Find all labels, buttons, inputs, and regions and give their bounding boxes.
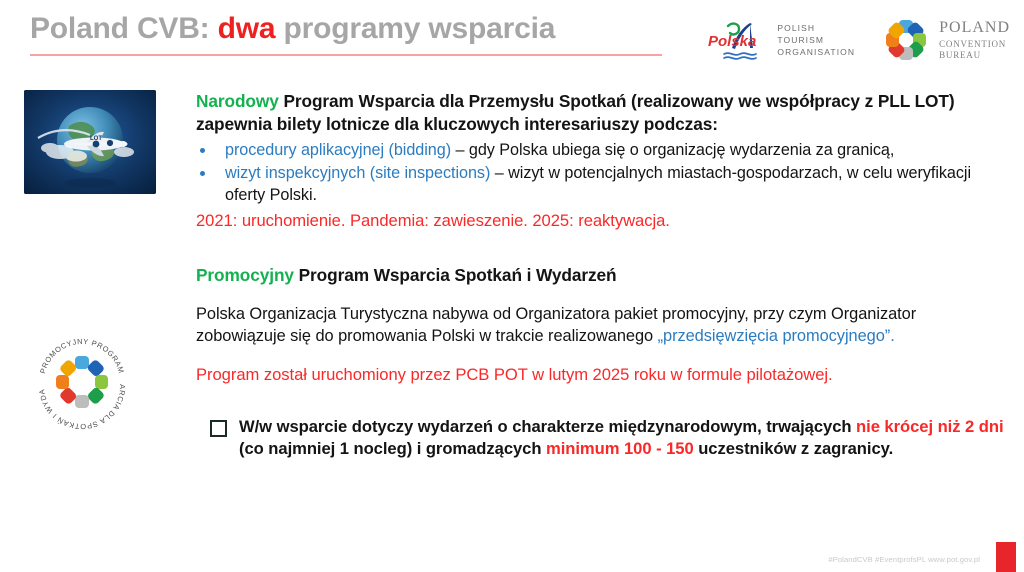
promo-program-heading-green: Promocyjny [196, 265, 294, 285]
conditions-red-2: minimum 100 - 150 [546, 439, 694, 458]
footer-red-block [996, 542, 1016, 572]
bullet-dot-icon [200, 148, 205, 153]
checkbox-icon [210, 420, 227, 437]
title-part-2: programy wsparcia [275, 12, 555, 45]
pot-caption-line-2: TOURISM [777, 34, 855, 46]
pot-caption-line-1: POLISH [777, 22, 855, 34]
pot-caption-line-3: ORGANISATION [777, 46, 855, 58]
polish-tourism-organisation-logo: Polska POLISH TOURISM ORGANISATION [706, 18, 855, 62]
pcb-caption-line-2: CONVENTION [939, 39, 1010, 51]
conditions-text-2: (co najmniej 1 nocleg) i gromadzących [239, 439, 546, 458]
section-national-program: Narodowy Program Wsparcia dla Przemysłu … [196, 90, 1008, 232]
bullet-2-blue: wizyt inspekcyjnych (site inspections) [225, 164, 490, 182]
pot-caption: POLISH TOURISM ORGANISATION [777, 22, 855, 59]
page-title: Poland CVB: dwa programy wsparcia [30, 12, 670, 47]
slide-root: Poland CVB: dwa programy wsparcia Polska… [0, 0, 1024, 572]
promo-program-heading-rest: Program Wsparcia Spotkań i Wydarzeń [294, 265, 617, 285]
national-program-heading-green: Narodowy [196, 91, 279, 111]
title-area: Poland CVB: dwa programy wsparcia [30, 12, 670, 56]
section-conditions: W/w wsparcie dotyczy wydarzeń o charakte… [196, 416, 1008, 461]
poland-convention-bureau-logo: POLAND CONVENTION BUREAU [881, 16, 1010, 64]
national-program-bullets: procedury aplikacyjnej (bidding) – gdy P… [196, 140, 1008, 206]
polska-wordmark-icon: Polska [706, 18, 768, 62]
header-logos: Polska POLISH TOURISM ORGANISATION [706, 16, 1010, 64]
national-program-red-note: 2021: uruchomienie. Pandemia: zawieszeni… [196, 210, 1008, 232]
pcb-flower-icon [881, 16, 931, 64]
title-highlight: dwa [218, 12, 276, 45]
pcb-caption: POLAND CONVENTION BUREAU [939, 18, 1010, 62]
promo-program-body-blue: „przedsięwzięcia promocyjnego”. [658, 327, 895, 345]
bullet-1-blue: procedury aplikacyjnej (bidding) [225, 141, 451, 159]
footer-hashtags: #PolandCVB #EventprofsPL www.pot.gov.pl [828, 555, 980, 564]
conditions-text-3: uczestników z zagranicy. [694, 439, 893, 458]
title-underline-rule [30, 54, 662, 56]
title-part-1: Poland CVB: [30, 12, 218, 45]
list-item: procedury aplikacyjnej (bidding) – gdy P… [196, 140, 1008, 162]
bullet-dot-icon [200, 171, 205, 176]
promo-program-heading: Promocyjny Program Wsparcia Spotkań i Wy… [196, 264, 1008, 287]
promo-program-red-note: Program został uruchomiony przez PCB POT… [196, 364, 1008, 386]
pcb-caption-line-3: BUREAU [939, 50, 1010, 62]
national-program-heading: Narodowy Program Wsparcia dla Przemysłu … [196, 90, 1008, 135]
national-program-heading-rest: Program Wsparcia dla Przemysłu Spotkań (… [196, 91, 955, 134]
list-item: wizyt inspekcyjnych (site inspections) –… [196, 163, 1008, 206]
svg-text:LOT: LOT [90, 136, 102, 142]
main-content: Narodowy Program Wsparcia dla Przemysłu … [196, 90, 1008, 477]
svg-text:Polska: Polska [708, 33, 756, 50]
pcb-caption-line-1: POLAND [939, 18, 1010, 38]
conditions-red-1: nie krócej niż 2 dni [856, 417, 1003, 436]
globe-airplane-image: LOT [24, 90, 156, 194]
promo-program-circular-badge: PROMOCYJNY PROGRAM WSPARCIA DLA SPOTKAŃ … [30, 330, 148, 434]
section-promotional-program: Promocyjny Program Wsparcia Spotkań i Wy… [196, 264, 1008, 386]
promo-program-body: Polska Organizacja Turystyczna nabywa od… [196, 303, 1008, 348]
bullet-1-rest: – gdy Polska ubiega się o organizację wy… [451, 141, 894, 159]
conditions-text: W/w wsparcie dotyczy wydarzeń o charakte… [209, 416, 1008, 461]
conditions-text-1: W/w wsparcie dotyczy wydarzeń o charakte… [239, 417, 856, 436]
